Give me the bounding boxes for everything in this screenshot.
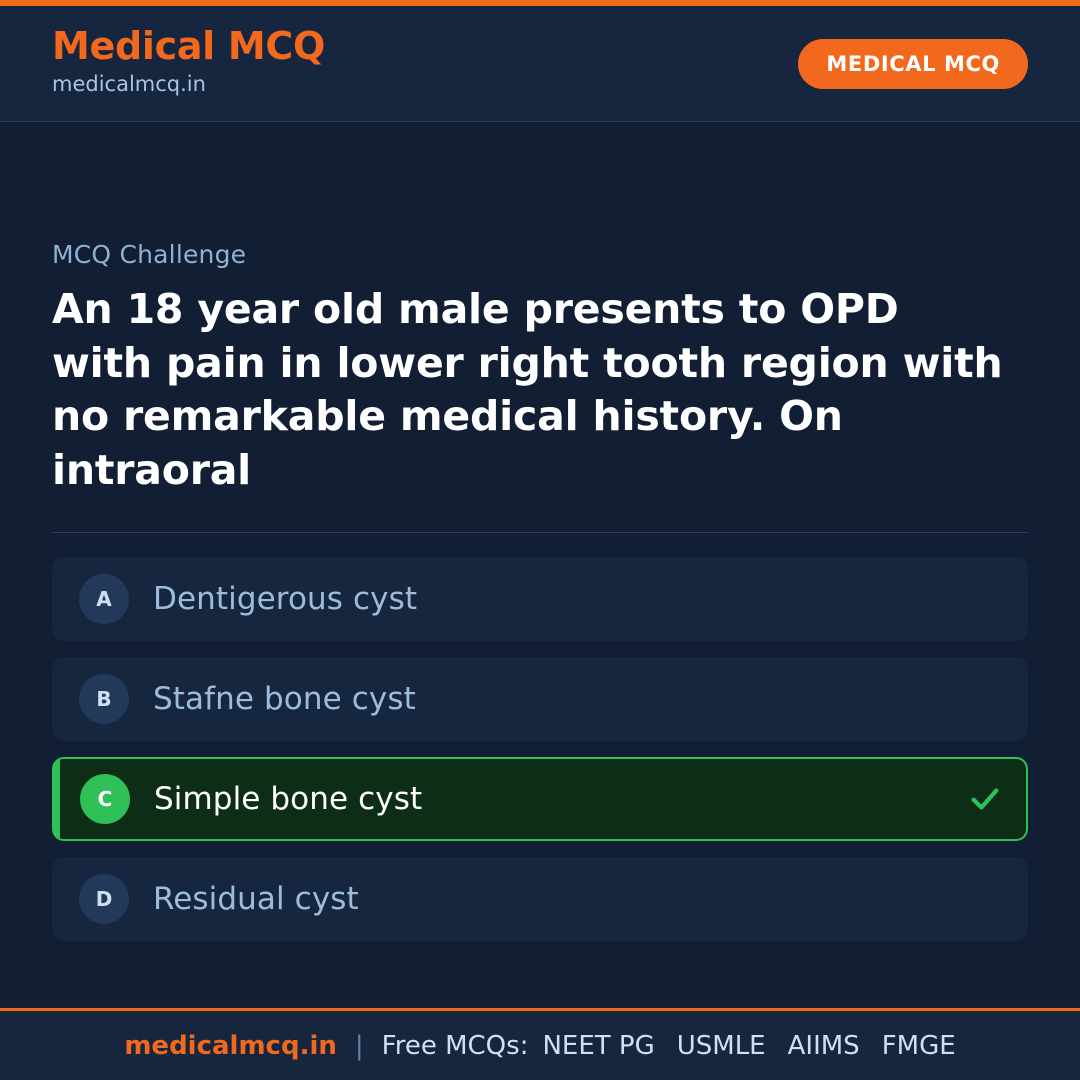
- header: Medical MCQ medicalmcq.in MEDICAL MCQ: [0, 6, 1080, 122]
- question-text: An 18 year old male presents to OPD with…: [52, 283, 1012, 498]
- brand-title: Medical MCQ: [52, 26, 325, 67]
- brand-subtitle: medicalmcq.in: [52, 69, 325, 101]
- option-a[interactable]: A Dentigerous cyst: [52, 557, 1028, 641]
- option-c-label: Simple bone cyst: [154, 781, 422, 817]
- footer: medicalmcq.in | Free MCQs: NEET PG USMLE…: [0, 1008, 1080, 1080]
- options-list: A Dentigerous cyst B Stafne bone cyst C …: [52, 557, 1028, 941]
- option-c[interactable]: C Simple bone cyst: [52, 757, 1028, 841]
- footer-exam-aiims: AIIMS: [788, 1031, 860, 1061]
- option-d-label: Residual cyst: [153, 881, 359, 917]
- brand-block: Medical MCQ medicalmcq.in: [52, 26, 325, 101]
- footer-separator: |: [355, 1031, 364, 1061]
- mcq-card: Medical MCQ medicalmcq.in MEDICAL MCQ MC…: [0, 0, 1080, 1080]
- option-b-label: Stafne bone cyst: [153, 681, 416, 717]
- eyebrow-label: MCQ Challenge: [52, 240, 1028, 269]
- main-content: MCQ Challenge An 18 year old male presen…: [0, 122, 1080, 1008]
- question-divider: [52, 532, 1028, 533]
- footer-exam-usmle: USMLE: [677, 1031, 766, 1061]
- footer-exam-neetpg: NEET PG: [542, 1031, 654, 1061]
- option-d[interactable]: D Residual cyst: [52, 857, 1028, 941]
- footer-exam-fmge: FMGE: [882, 1031, 956, 1061]
- check-icon: [968, 782, 1002, 816]
- option-b[interactable]: B Stafne bone cyst: [52, 657, 1028, 741]
- option-a-key: A: [79, 574, 129, 624]
- option-a-label: Dentigerous cyst: [153, 581, 417, 617]
- option-b-key: B: [79, 674, 129, 724]
- footer-text: Free MCQs:: [382, 1031, 529, 1061]
- footer-exam-list: NEET PG USMLE AIIMS FMGE: [542, 1031, 955, 1061]
- option-c-key: C: [80, 774, 130, 824]
- option-d-key: D: [79, 874, 129, 924]
- header-badge: MEDICAL MCQ: [798, 39, 1028, 89]
- footer-site: medicalmcq.in: [124, 1031, 337, 1061]
